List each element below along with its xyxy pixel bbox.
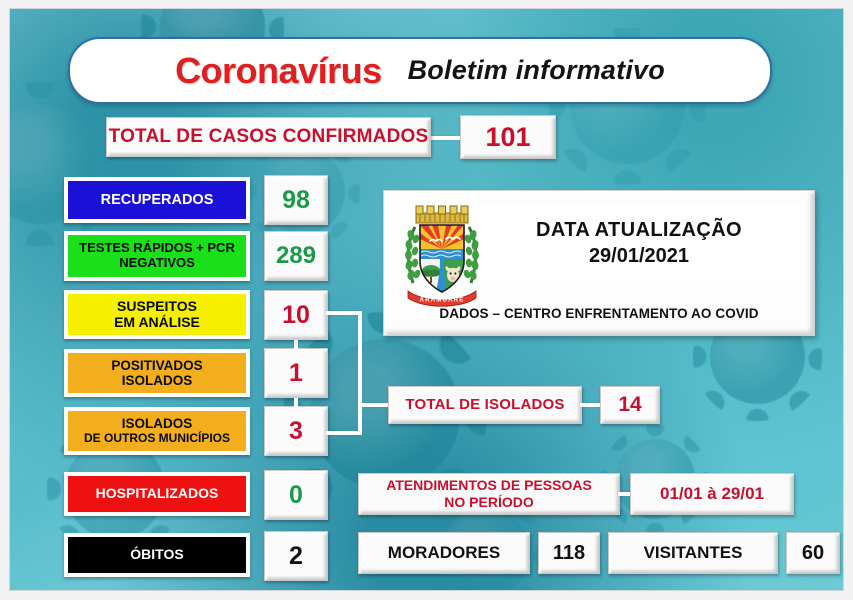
stat-value-box-suspeitos: 10 xyxy=(264,290,328,340)
stat-value: 289 xyxy=(276,243,316,270)
residents-value: 118 xyxy=(553,542,585,564)
stat-label-line1: ÓBITOS xyxy=(130,546,183,562)
stat-value-box-positivados-isolados: 1 xyxy=(264,348,328,398)
attendance-label-line1: ATENDIMENTOS DE PESSOAS xyxy=(386,477,592,493)
stat-chip-obitos: ÓBITOS xyxy=(64,533,250,577)
attendance-label-line2: NO PERÍODO xyxy=(444,494,533,510)
total-isolated-label: TOTAL DE ISOLADOS xyxy=(405,397,564,414)
stat-value-box-recuperados: 98 xyxy=(264,175,328,225)
residents-label-box: MORADORES xyxy=(358,532,530,574)
poster-frame: Coronavírus Boletim informativo TOTAL DE… xyxy=(0,0,853,600)
total-isolated-value-box: 14 xyxy=(600,386,660,424)
coat-of-arms-ribbon-text: ARAMBARÉ xyxy=(420,296,465,304)
title-banner: Coronavírus Boletim informativo xyxy=(68,37,772,104)
stat-chip-hospitalizados: HOSPITALIZADOS xyxy=(64,472,250,516)
stat-chip-recuperados: RECUPERADOS xyxy=(64,177,250,223)
total-confirmed-value-box: 101 xyxy=(460,115,556,159)
stat-label-line2: ISOLADOS xyxy=(122,373,193,388)
residents-value-box: 118 xyxy=(538,532,600,574)
stat-value: 2 xyxy=(289,542,303,570)
stat-value: 1 xyxy=(289,359,303,387)
stat-label-line1: POSITIVADOS xyxy=(111,358,202,373)
stat-value-box-testes-negativos: 289 xyxy=(264,231,328,281)
connector-positivados-to-isolados xyxy=(294,398,298,407)
connector-bracket-to-total-isolados xyxy=(358,403,390,407)
stat-value-box-isolados-outros-municipios: 3 xyxy=(264,406,328,456)
total-isolated-value: 14 xyxy=(618,393,641,417)
visitors-label: VISITANTES xyxy=(644,543,743,562)
attendance-period-box: 01/01 à 29/01 xyxy=(630,473,794,515)
stat-value: 0 xyxy=(289,481,303,509)
poster-canvas: Coronavírus Boletim informativo TOTAL DE… xyxy=(10,9,843,590)
stat-label-line1: HOSPITALIZADOS xyxy=(96,485,219,501)
stat-chip-suspeitos: SUSPEITOS EM ANÁLISE xyxy=(64,290,250,339)
attendance-period: 01/01 à 29/01 xyxy=(660,484,764,503)
connector-bracket-bottom xyxy=(326,431,362,435)
stat-value: 98 xyxy=(282,186,310,214)
stat-chip-isolados-outros-municipios: ISOLADOS DE OUTROS MUNICÍPIOS xyxy=(64,407,250,455)
total-isolated-label-box: TOTAL DE ISOLADOS xyxy=(388,386,582,424)
stat-label-line1: TESTES RÁPIDOS + PCR xyxy=(79,240,235,255)
data-source-line: DADOS – CENTRO ENFRENTAMENTO AO COVID xyxy=(384,306,814,321)
total-confirmed-label-box: TOTAL DE CASOS CONFIRMADOS xyxy=(106,117,431,157)
update-panel: ARAMBARÉ DATA ATUALIZAÇÃO 29/01/2021 DAD… xyxy=(383,190,815,336)
connector-bracket-vertical xyxy=(358,311,362,435)
connector-bracket-top xyxy=(326,311,362,315)
update-date-box: DATA ATUALIZAÇÃO 29/01/2021 xyxy=(479,205,799,281)
stat-label-line1: ISOLADOS xyxy=(122,416,193,431)
title-main: Coronavírus xyxy=(175,50,382,92)
stat-chip-testes-negativos: TESTES RÁPIDOS + PCR NEGATIVOS xyxy=(64,231,250,281)
residents-label: MORADORES xyxy=(388,543,500,562)
stat-value-box-hospitalizados: 0 xyxy=(264,470,328,520)
total-confirmed-value: 101 xyxy=(485,122,530,152)
stat-label-line1: SUSPEITOS xyxy=(117,298,197,314)
visitors-value: 60 xyxy=(802,542,824,564)
update-date-value: 29/01/2021 xyxy=(589,245,689,268)
stat-label-line2: NEGATIVOS xyxy=(119,255,195,270)
stat-value: 3 xyxy=(289,417,303,445)
stat-value-box-obitos: 2 xyxy=(264,531,328,581)
stat-label-line2: DE OUTROS MUNICÍPIOS xyxy=(84,431,230,445)
stat-value: 10 xyxy=(282,301,310,329)
stat-label-line2: EM ANÁLISE xyxy=(114,314,200,330)
visitors-value-box: 60 xyxy=(786,532,840,574)
connector-total-isolated xyxy=(580,403,602,407)
title-subtitle: Boletim informativo xyxy=(408,55,665,86)
connector-suspeitos-to-positivados xyxy=(294,340,298,349)
update-date-label: DATA ATUALIZAÇÃO xyxy=(536,219,742,242)
stat-chip-positivados-isolados: POSITIVADOS ISOLADOS xyxy=(64,349,250,397)
stat-label-line1: RECUPERADOS xyxy=(101,192,214,208)
attendance-label-box: ATENDIMENTOS DE PESSOAS NO PERÍODO xyxy=(358,473,620,515)
total-confirmed-label: TOTAL DE CASOS CONFIRMADOS xyxy=(109,126,429,147)
arambare-coat-of-arms: ARAMBARÉ xyxy=(402,199,482,311)
connector-total-confirmed xyxy=(428,136,462,140)
visitors-label-box: VISITANTES xyxy=(608,532,778,574)
